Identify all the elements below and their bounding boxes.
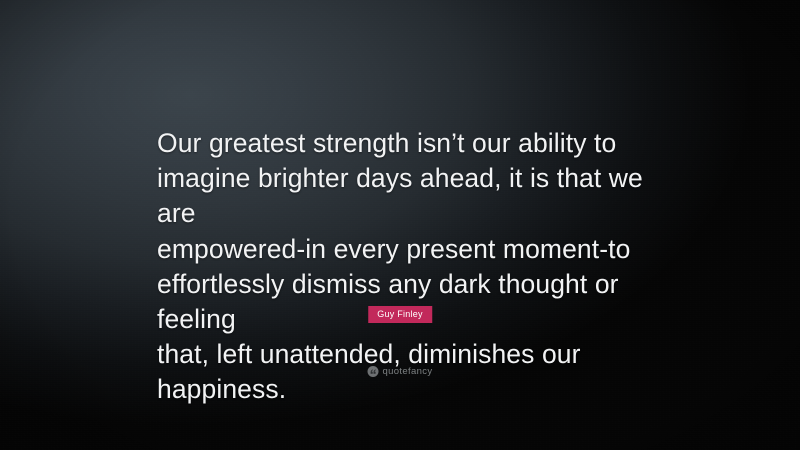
- quotefancy-logo-icon: [368, 366, 379, 377]
- watermark[interactable]: quotefancy: [368, 366, 433, 377]
- author-badge[interactable]: Guy Finley: [368, 306, 432, 323]
- quote-poster: Our greatest strength isn’t our ability …: [0, 0, 800, 450]
- poster-content: Our greatest strength isn’t our ability …: [0, 0, 800, 450]
- watermark-label: quotefancy: [383, 366, 433, 377]
